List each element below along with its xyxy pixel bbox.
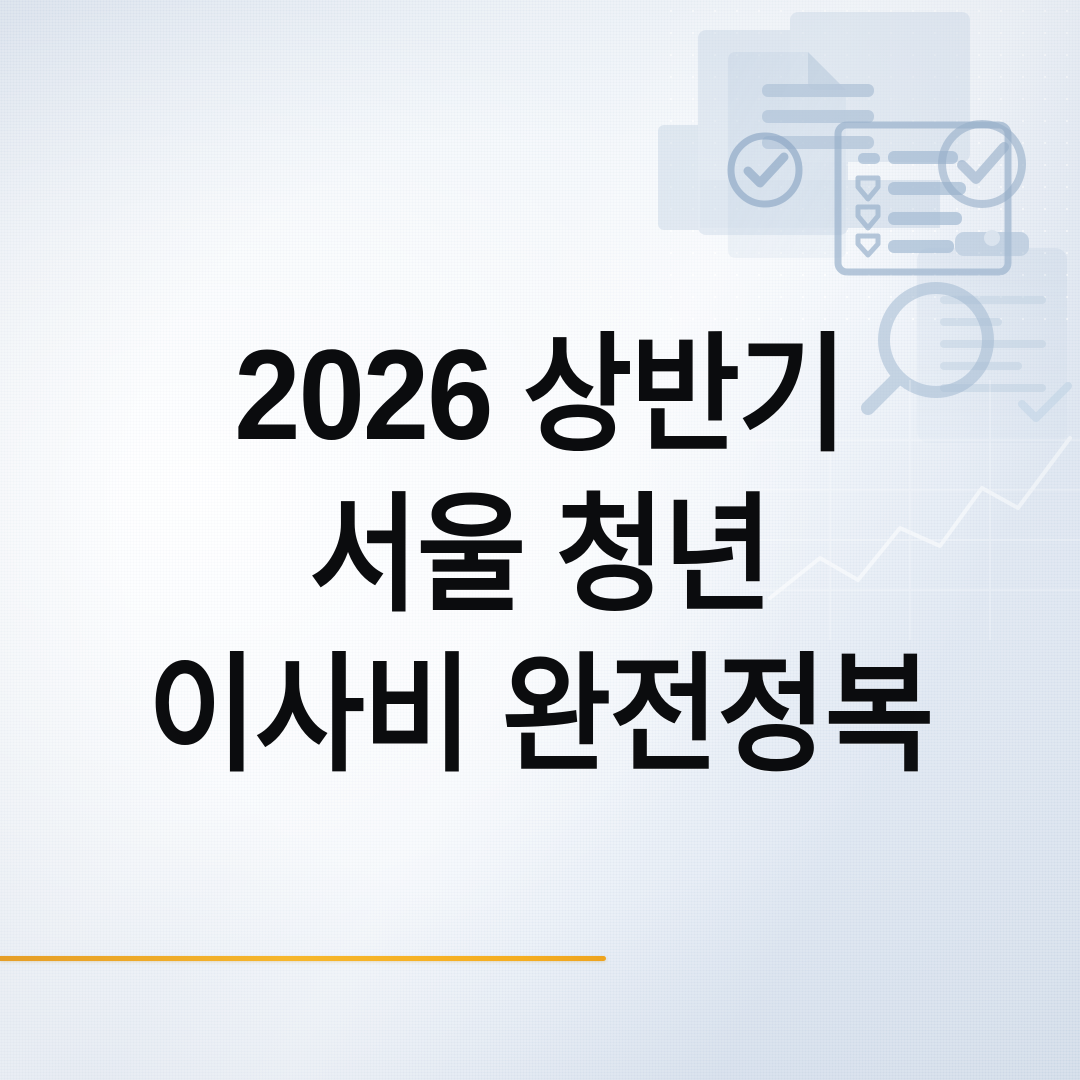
check-circle-icon	[731, 136, 799, 204]
ghost-paper-shapes	[658, 12, 970, 235]
poster-canvas: 2026 상반기 서울 청년 이사비 완전정복	[0, 0, 1080, 1080]
checklist-icon	[838, 125, 1008, 272]
check-circle-icon	[942, 124, 1022, 204]
page-title: 2026 상반기 서울 청년 이사비 완전정복	[0, 316, 1080, 796]
headline-line-1: 2026 상반기	[66, 316, 1015, 476]
dot-grid-pattern	[660, 0, 1080, 330]
document-icon	[728, 52, 874, 258]
accent-rule	[0, 956, 606, 961]
headline-line-2: 서울 청년	[66, 476, 1015, 636]
headline-line-3: 이사비 완전정복	[66, 636, 1015, 796]
